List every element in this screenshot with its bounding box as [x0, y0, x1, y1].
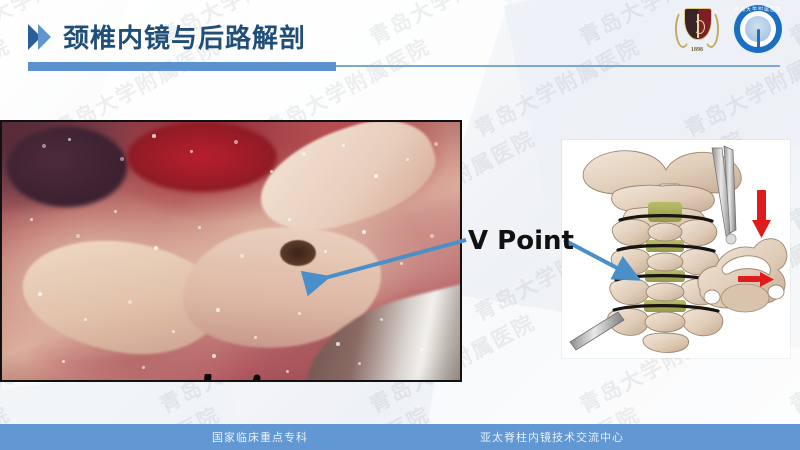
watermark-text: 青岛大学附属医院 [364, 0, 541, 51]
specular-highlight [142, 366, 145, 369]
specular-highlight [342, 144, 345, 147]
specular-highlight [240, 254, 244, 258]
v-point-label: V Point [468, 226, 574, 256]
specular-highlight [216, 308, 220, 312]
specular-highlight [42, 144, 46, 148]
watermark-text: 青岛大学附属医院 [784, 0, 800, 51]
chevron-right-icon [38, 24, 51, 50]
title-underline-thin [336, 65, 780, 67]
specular-highlight [286, 370, 289, 373]
specular-highlight [38, 292, 42, 296]
watermark-text: 青岛大学附属医院 [469, 31, 646, 144]
specular-highlight [298, 312, 301, 315]
specular-highlight [190, 150, 193, 153]
specular-highlight [400, 262, 403, 265]
slide-header: 颈椎内镜与后路解剖 [28, 18, 306, 55]
specular-highlight [154, 246, 158, 250]
footer-right-label: 亚太脊柱内镜技术交流中心 [480, 429, 624, 445]
specular-highlight [374, 174, 378, 178]
double-chevron-icon [28, 24, 51, 50]
endoscopic-image: Leica Scene 1 BLC(1/30S) [0, 120, 462, 382]
snake-icon [694, 20, 705, 34]
v-point-annotation-icon [204, 374, 262, 382]
specular-highlight [362, 230, 366, 234]
specular-highlight [434, 142, 438, 146]
specular-highlight [172, 330, 175, 333]
specular-highlight [76, 234, 80, 238]
specular-highlight [84, 318, 87, 321]
specular-highlight [430, 234, 434, 238]
crest-year: 1898 [670, 47, 724, 53]
specular-highlight [198, 226, 201, 229]
specular-highlight [406, 158, 409, 161]
specular-highlight [324, 250, 327, 253]
logo-group: 1898 青岛大学附属医院 [670, 4, 782, 54]
specular-highlight [152, 134, 156, 138]
title-underline-thick [28, 62, 336, 71]
footer-left-label: 国家临床重点专科 [212, 429, 308, 445]
specular-highlight [380, 318, 383, 321]
approach-arrow-down [752, 190, 771, 238]
specular-highlight [212, 354, 216, 358]
specular-highlight [128, 300, 132, 304]
specular-highlight [302, 152, 306, 156]
specular-highlight [358, 362, 361, 365]
shield-crest-logo: 1898 [670, 4, 724, 54]
seal-core [745, 16, 771, 42]
anatomy-illustration [562, 140, 790, 358]
cervical-spine-drawing [562, 140, 790, 358]
presentation-slide: 青岛大学附属医院青岛大学附属医院青岛大学附属医院青岛大学附属医院青岛大学附属医院… [0, 0, 800, 450]
image-vignette [2, 122, 460, 380]
specular-highlight [114, 210, 117, 213]
specular-highlight [336, 342, 340, 346]
specular-highlight [120, 157, 124, 161]
specular-highlight [68, 138, 71, 141]
page-title: 颈椎内镜与后路解剖 [63, 18, 306, 55]
seal-figure-icon [757, 29, 760, 49]
slide-footer: 国家临床重点专科 亚太脊柱内镜技术交流中心 [0, 424, 800, 450]
blue-seal-logo: 青岛大学附属医院 [734, 5, 782, 53]
